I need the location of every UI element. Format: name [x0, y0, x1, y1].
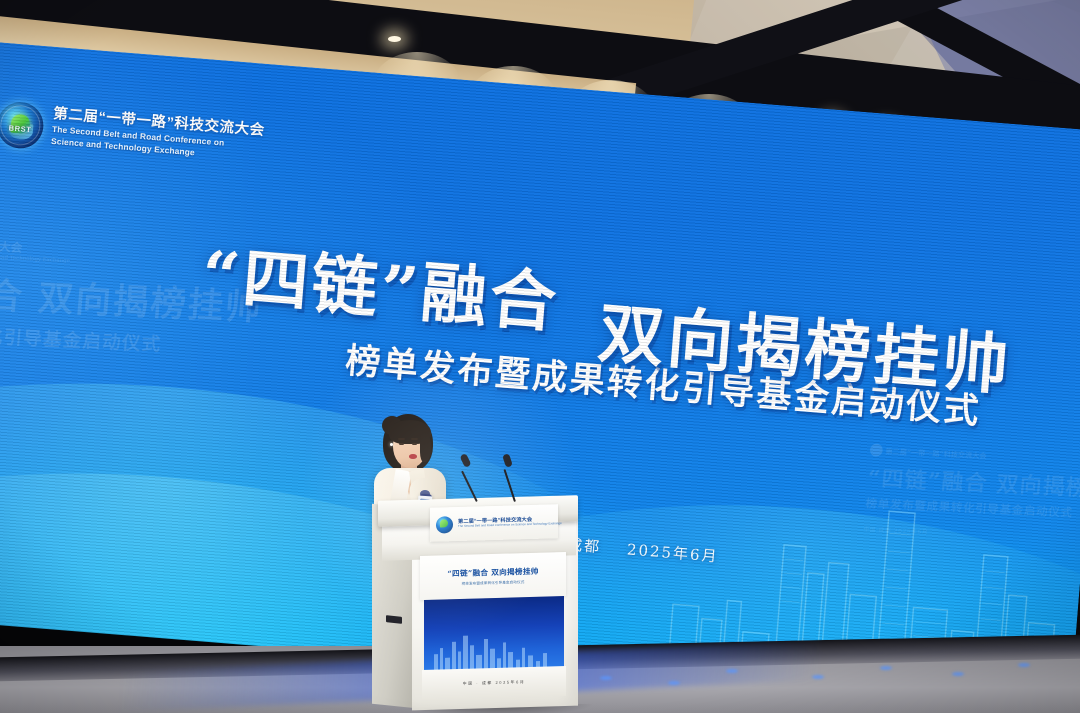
presenter-brow — [398, 438, 405, 440]
speaker-podium: 第二届“一带一路”科技交流大会 The Second Belt and Road… — [372, 498, 586, 713]
floor-light-speck — [952, 672, 964, 676]
podium-logo-icon — [436, 516, 453, 533]
floor-light-speck — [1018, 663, 1030, 667]
title-line1-part1: “四链”融合 — [199, 241, 561, 337]
podium-plaque-en: The Second Belt and Road Conference on S… — [458, 522, 562, 528]
podium-plaque-text: 第二届“一带一路”科技交流大会 The Second Belt and Road… — [458, 516, 562, 528]
podium-front-panel: “四链”融合 双向揭榜挂帅 榜单发布暨成果转化引导基金启动仪式 — [420, 552, 566, 600]
ghost-header: 第二届“一带一路”科技交流大会 — [870, 444, 1080, 469]
podium-skyline-graphic — [424, 596, 564, 672]
ghost-logo-icon — [870, 444, 884, 457]
floor-light-speck — [812, 675, 824, 679]
podium-front-subtitle: 榜单发布暨成果转化引导基金启动仪式 — [462, 580, 525, 587]
ghost-header-cn: 第二届“一带一路”科技交流大会 — [885, 445, 987, 460]
presenter-earring — [390, 443, 393, 446]
podium-base-text: 中国 · 成都 2025年6月 — [463, 679, 526, 687]
downlight-icon — [388, 36, 401, 42]
brst-globe-logo-icon: BRST — [0, 101, 45, 151]
floor-light-speck — [668, 681, 680, 685]
podium-logo-swirl — [440, 519, 448, 527]
floor-light-speck — [880, 666, 892, 670]
presenter-hair-side — [420, 432, 431, 462]
presenter-brow — [411, 438, 418, 440]
presenter-lips — [409, 454, 417, 459]
screen-date-value: 2025年6月 — [626, 540, 719, 565]
floor-light-speck — [600, 676, 612, 680]
conference-stage-photo: 第二届“一带一路”科技交流大会 The Second Belt and Road… — [0, 0, 1080, 713]
podium-base-plate: 中国 · 成都 2025年6月 — [422, 666, 566, 700]
podium-logo-plaque: 第二届“一带一路”科技交流大会 The Second Belt and Road… — [430, 504, 558, 542]
floor-light-speck — [726, 669, 738, 673]
podium-front-title: “四链”融合 双向揭榜挂帅 — [447, 565, 538, 579]
